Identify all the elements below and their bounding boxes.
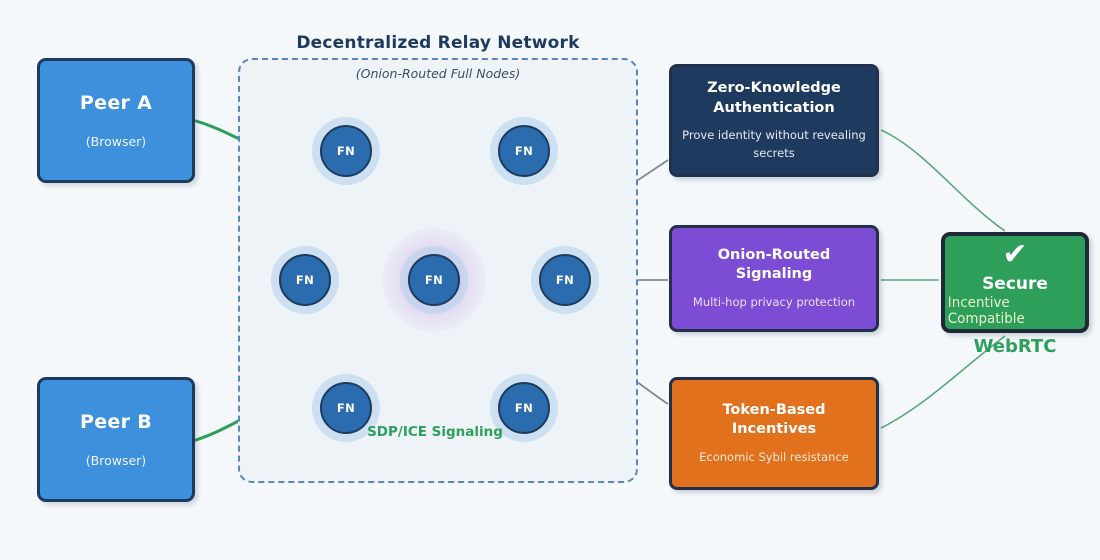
card-zero-knowledge-authentication[interactable]: Zero-Knowledge Authentication Prove iden… [669, 64, 879, 177]
sdp-ice-signaling-label: SDP/ICE Signaling [305, 424, 565, 440]
card-title: Zero-Knowledge Authentication [682, 79, 866, 118]
checkmark-icon: ✔ [1002, 240, 1027, 270]
fn-label: FN [425, 273, 443, 287]
fn-node-top-right[interactable]: FN [498, 125, 550, 177]
fn-label: FN [515, 144, 533, 158]
fn-node-mid-left[interactable]: FN [279, 254, 331, 306]
peer-a-box[interactable]: Peer A (Browser) [37, 58, 195, 183]
peer-b-subtitle: (Browser) [86, 453, 146, 468]
fn-label: FN [296, 273, 314, 287]
fn-node-mid-right[interactable]: FN [539, 254, 591, 306]
diagram-canvas: Peer A (Browser) Peer B (Browser) Decent… [0, 0, 1100, 560]
fn-label: FN [556, 273, 574, 287]
link-zk-secure [881, 130, 1005, 231]
card-onion-routed-signaling[interactable]: Onion-Routed Signaling Multi-hop privacy… [669, 225, 879, 332]
peer-b-box[interactable]: Peer B (Browser) [37, 377, 195, 502]
network-title: Decentralized Relay Network [238, 33, 638, 53]
network-subtitle: (Onion-Routed Full Nodes) [238, 66, 638, 81]
fn-label: FN [337, 401, 355, 415]
card-token-based-incentives[interactable]: Token-Based Incentives Economic Sybil re… [669, 377, 879, 490]
secure-result-box[interactable]: ✔ Secure Incentive Compatible [941, 232, 1089, 333]
peer-a-title: Peer A [80, 92, 152, 114]
peer-b-title: Peer B [80, 411, 152, 433]
fn-node-top-left[interactable]: FN [320, 125, 372, 177]
secure-title: Secure [982, 274, 1048, 294]
card-subtitle: Economic Sybil resistance [699, 449, 849, 466]
peer-a-subtitle: (Browser) [86, 134, 146, 149]
card-subtitle: Prove identity without revealing secrets [682, 127, 866, 162]
webrtc-caption: WebRTC [941, 336, 1089, 357]
card-title: Token-Based Incentives [682, 401, 866, 440]
secure-subtitle: Incentive Compatible [948, 295, 1082, 327]
fn-label: FN [515, 401, 533, 415]
card-title: Onion-Routed Signaling [682, 246, 866, 285]
fn-label: FN [337, 144, 355, 158]
card-subtitle: Multi-hop privacy protection [693, 294, 855, 311]
fn-node-center[interactable]: FN [408, 254, 460, 306]
